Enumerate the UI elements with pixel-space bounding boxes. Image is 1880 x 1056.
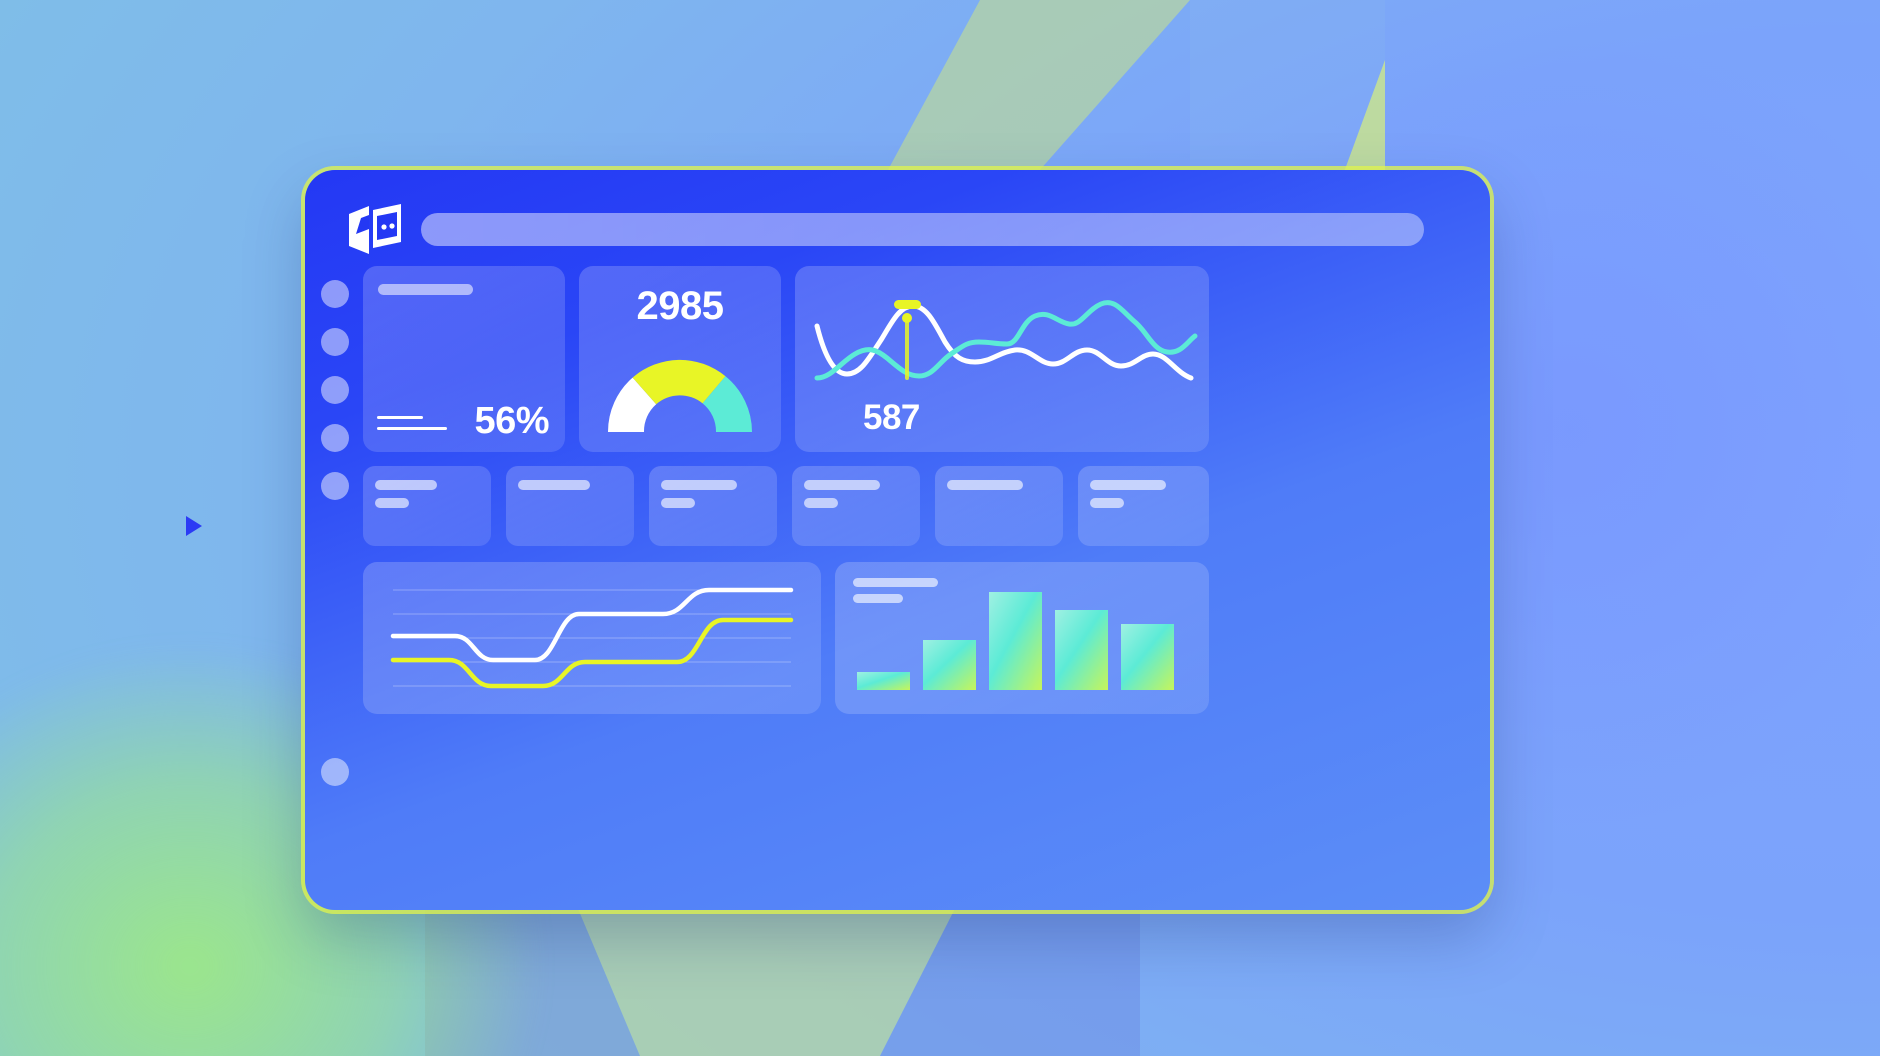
line-chart-card[interactable] (363, 562, 821, 714)
mini-card-1-title (375, 480, 437, 490)
mini-card-6-title (1090, 480, 1166, 490)
sidebar-nav (305, 280, 363, 910)
mini-card-6[interactable] (1078, 466, 1209, 546)
gauge-card[interactable]: 2985 (579, 266, 781, 452)
percent-card[interactable]: 56% (363, 266, 565, 452)
mini-card-6-subtitle (1090, 498, 1124, 508)
percent-card-value: 56% (474, 402, 549, 440)
mini-card-3-subtitle (661, 498, 695, 508)
step-line-chart (363, 562, 821, 714)
mini-card-4-subtitle (804, 498, 838, 508)
mini-card-2[interactable] (506, 466, 634, 546)
sidebar-item-1[interactable] (321, 280, 349, 308)
mini-card-4[interactable] (792, 466, 920, 546)
app-logo-icon[interactable] (347, 202, 403, 258)
mini-card-1[interactable] (363, 466, 491, 546)
mini-card-5[interactable] (935, 466, 1063, 546)
search-input[interactable] (421, 213, 1424, 246)
sidebar-item-3[interactable] (321, 376, 349, 404)
mini-card-5-title (947, 480, 1023, 490)
play-triangle-cursor[interactable] (186, 516, 202, 536)
bar-chart-card[interactable] (835, 562, 1209, 714)
wave-card[interactable]: 587 (795, 266, 1209, 452)
wave-card-value: 587 (863, 398, 920, 438)
gauge-chart (600, 352, 760, 434)
dashboard-content: 56% 2985 587 (363, 266, 1464, 884)
window-header (305, 170, 1490, 280)
wave-chart (795, 266, 1209, 452)
mini-card-1-subtitle (375, 498, 409, 508)
bar-chart (835, 562, 1209, 714)
mini-card-3[interactable] (649, 466, 777, 546)
percent-card-title (378, 284, 473, 295)
sidebar-item-2[interactable] (321, 328, 349, 356)
sidebar-item-4[interactable] (321, 424, 349, 452)
percent-card-sparkline-icon (377, 416, 447, 430)
screenshot-stage: 56% 2985 587 (0, 0, 1880, 1056)
sidebar-item-settings[interactable] (321, 758, 349, 786)
sidebar-item-5[interactable] (321, 472, 349, 500)
dashboard-window: 56% 2985 587 (305, 170, 1490, 910)
mini-card-2-title (518, 480, 590, 490)
mini-card-4-title (804, 480, 880, 490)
gauge-card-value: 2985 (579, 284, 781, 329)
mini-card-3-title (661, 480, 737, 490)
